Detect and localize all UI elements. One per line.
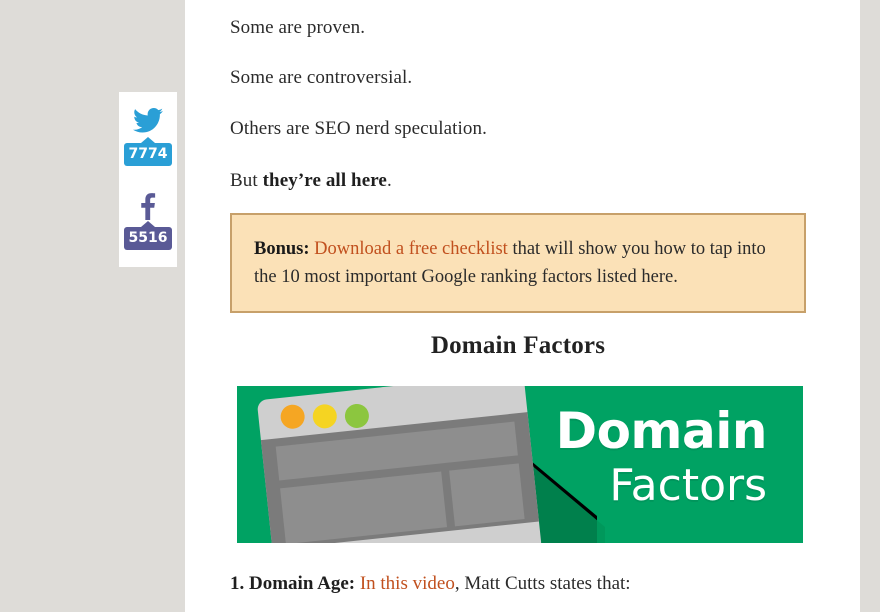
list-item-label: 1. Domain Age: bbox=[230, 573, 355, 594]
bonus-callout: Bonus: Download a free checklist that wi… bbox=[230, 213, 806, 313]
banner-inner: Domain Factors bbox=[237, 386, 803, 543]
share-button-twitter[interactable]: 7774 bbox=[119, 92, 177, 176]
bonus-callout-text: Bonus: Download a free checklist that wi… bbox=[254, 235, 782, 291]
facebook-share-count: 5516 bbox=[124, 227, 173, 250]
paragraph-1: Some are proven. bbox=[230, 14, 365, 43]
banner-title-line-1: Domain bbox=[556, 406, 767, 456]
social-share-bar: 7774 5516 bbox=[119, 92, 177, 267]
paragraph-3: Others are SEO nerd speculation. bbox=[230, 115, 487, 144]
banner-title: Domain Factors bbox=[556, 406, 767, 508]
facebook-f-icon bbox=[119, 176, 177, 216]
paragraph-4-prefix: But bbox=[230, 170, 263, 191]
list-item-tail: , Matt Cutts states that: bbox=[455, 573, 631, 594]
share-button-facebook[interactable]: 5516 bbox=[119, 176, 177, 260]
paragraph-4-emphasis: they’re all here bbox=[263, 170, 387, 191]
content-column: Some are proven. Some are controversial.… bbox=[185, 0, 860, 612]
domain-factors-banner: Domain Factors bbox=[237, 386, 803, 543]
facebook-share-count-value: 5516 bbox=[129, 230, 168, 246]
twitter-share-count: 7774 bbox=[124, 143, 173, 166]
download-checklist-link[interactable]: Download a free checklist bbox=[314, 239, 508, 259]
bonus-label: Bonus: bbox=[254, 239, 310, 259]
twitter-share-count-value: 7774 bbox=[129, 146, 168, 162]
list-item-domain-age: 1. Domain Age: In this video, Matt Cutts… bbox=[230, 570, 631, 599]
page-root: Some are proven. Some are controversial.… bbox=[0, 0, 880, 612]
paragraph-4: But they’re all here. bbox=[230, 167, 392, 196]
banner-title-line-2: Factors bbox=[556, 464, 767, 508]
in-this-video-link[interactable]: In this video bbox=[360, 573, 455, 594]
twitter-bird-icon bbox=[119, 92, 177, 132]
paragraph-2: Some are controversial. bbox=[230, 64, 412, 93]
section-heading-domain-factors: Domain Factors bbox=[230, 332, 806, 360]
paragraph-4-suffix: . bbox=[387, 170, 392, 191]
